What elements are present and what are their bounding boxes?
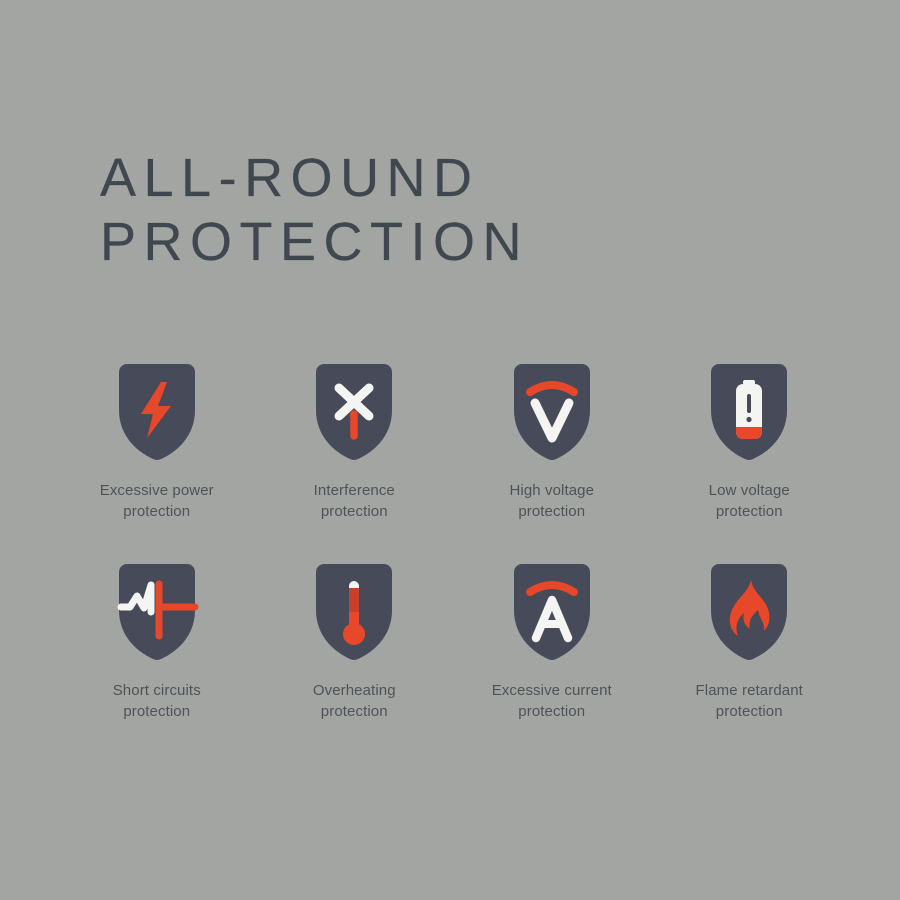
feature-item-overheating: Overheating protection (256, 560, 454, 760)
ampere-a-icon (510, 560, 594, 664)
feature-caption: Excessive current protection (492, 680, 612, 722)
protection-feature-grid: Excessive power protection Interference … (58, 360, 848, 760)
shield-badge (707, 560, 791, 664)
short-circuit-icon (115, 560, 199, 664)
shield-badge (115, 360, 199, 464)
feature-item-flame-retardant: Flame retardant protection (651, 560, 849, 760)
interference-cross-icon (312, 360, 396, 464)
page-title-line-1: ALL-ROUND (100, 146, 800, 210)
lightning-bolt-icon (115, 360, 199, 464)
shield-badge (510, 360, 594, 464)
thermometer-icon (312, 560, 396, 664)
feature-caption: Excessive power protection (100, 480, 214, 522)
feature-item-high-voltage: High voltage protection (453, 360, 651, 560)
feature-caption: High voltage protection (509, 480, 594, 522)
feature-item-excessive-power: Excessive power protection (58, 360, 256, 560)
high-voltage-v-icon (510, 360, 594, 464)
feature-caption: Low voltage protection (709, 480, 790, 522)
feature-caption: Short circuits protection (113, 680, 201, 722)
feature-item-interference: Interference protection (256, 360, 454, 560)
feature-caption: Overheating protection (313, 680, 396, 722)
low-battery-icon (707, 360, 791, 464)
feature-item-short-circuits: Short circuits protection (58, 560, 256, 760)
all-round-protection-poster: ALL-ROUND PROTECTION Excessive power pro… (0, 0, 900, 900)
shield-badge (707, 360, 791, 464)
feature-item-low-voltage: Low voltage protection (651, 360, 849, 560)
flame-icon (707, 560, 791, 664)
page-title-line-2: PROTECTION (100, 210, 800, 274)
feature-caption: Interference protection (314, 480, 395, 522)
shield-badge (115, 560, 199, 664)
shield-badge (312, 560, 396, 664)
shield-badge (510, 560, 594, 664)
page-title: ALL-ROUND PROTECTION (100, 146, 800, 274)
feature-item-excessive-current: Excessive current protection (453, 560, 651, 760)
shield-badge (312, 360, 396, 464)
feature-caption: Flame retardant protection (696, 680, 803, 722)
